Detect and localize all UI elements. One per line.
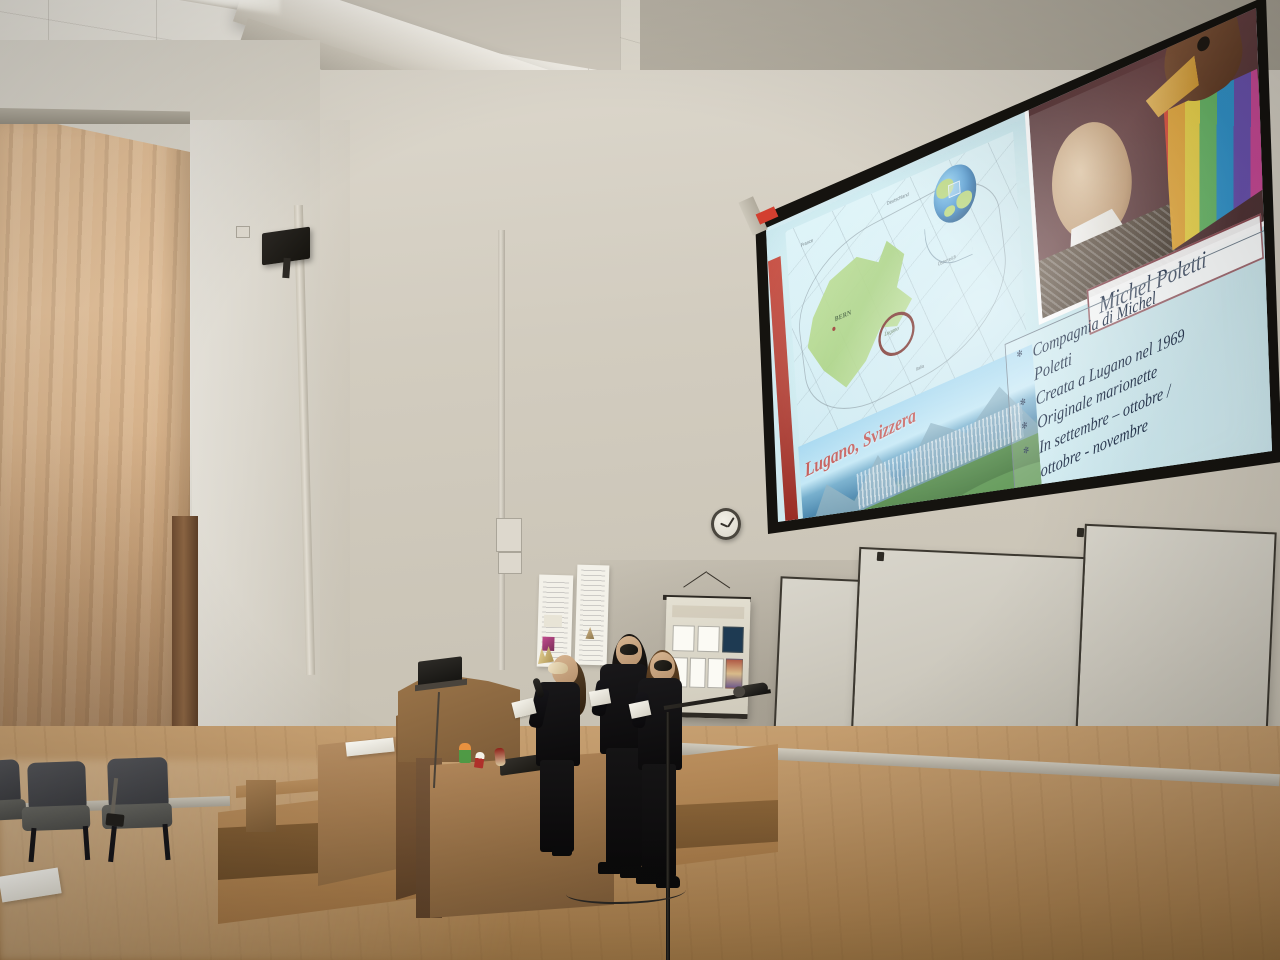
marionette-prop-1[interactable] [459, 743, 471, 763]
info-poster-right [575, 565, 610, 666]
banner-header [672, 605, 744, 619]
presenter-3-mask [654, 660, 672, 671]
presenter-1-shoe [552, 846, 572, 856]
wall-clock [711, 508, 741, 540]
whiteboard-panel-left[interactable] [773, 576, 860, 737]
whiteboard-panel-center[interactable] [851, 547, 1087, 743]
presenter-2-shoe-left [598, 862, 622, 874]
presenter-1-legs [540, 760, 574, 852]
presenter-desk-left [318, 736, 402, 886]
presenter-2-mask [620, 644, 638, 655]
whiteboard-panel-right[interactable] [1075, 524, 1276, 744]
presenter-1-mask [548, 662, 568, 674]
marionette-prop-3[interactable] [494, 748, 506, 767]
broom-head[interactable] [105, 813, 124, 827]
projection-screen[interactable]: BERN Lugano France Deutschland Österreic… [744, 0, 1280, 544]
wall-outlet-box-upper[interactable] [496, 518, 522, 552]
wall-outlet-box-lower[interactable] [498, 552, 522, 574]
lecture-hall-scene: BERN Lugano France Deutschland Österreic… [0, 0, 1280, 960]
whiteboard-clip-1 [877, 552, 885, 561]
wooden-box [246, 780, 276, 832]
speaker-bracket [282, 258, 290, 278]
whiteboard-clip-2 [1077, 528, 1085, 537]
microphone-stand-pole[interactable] [666, 712, 670, 960]
presenter-2-legs [606, 748, 642, 868]
presenter-3-legs [642, 764, 676, 878]
wall-sensor [236, 226, 250, 238]
wall-conduit-right [498, 230, 505, 670]
